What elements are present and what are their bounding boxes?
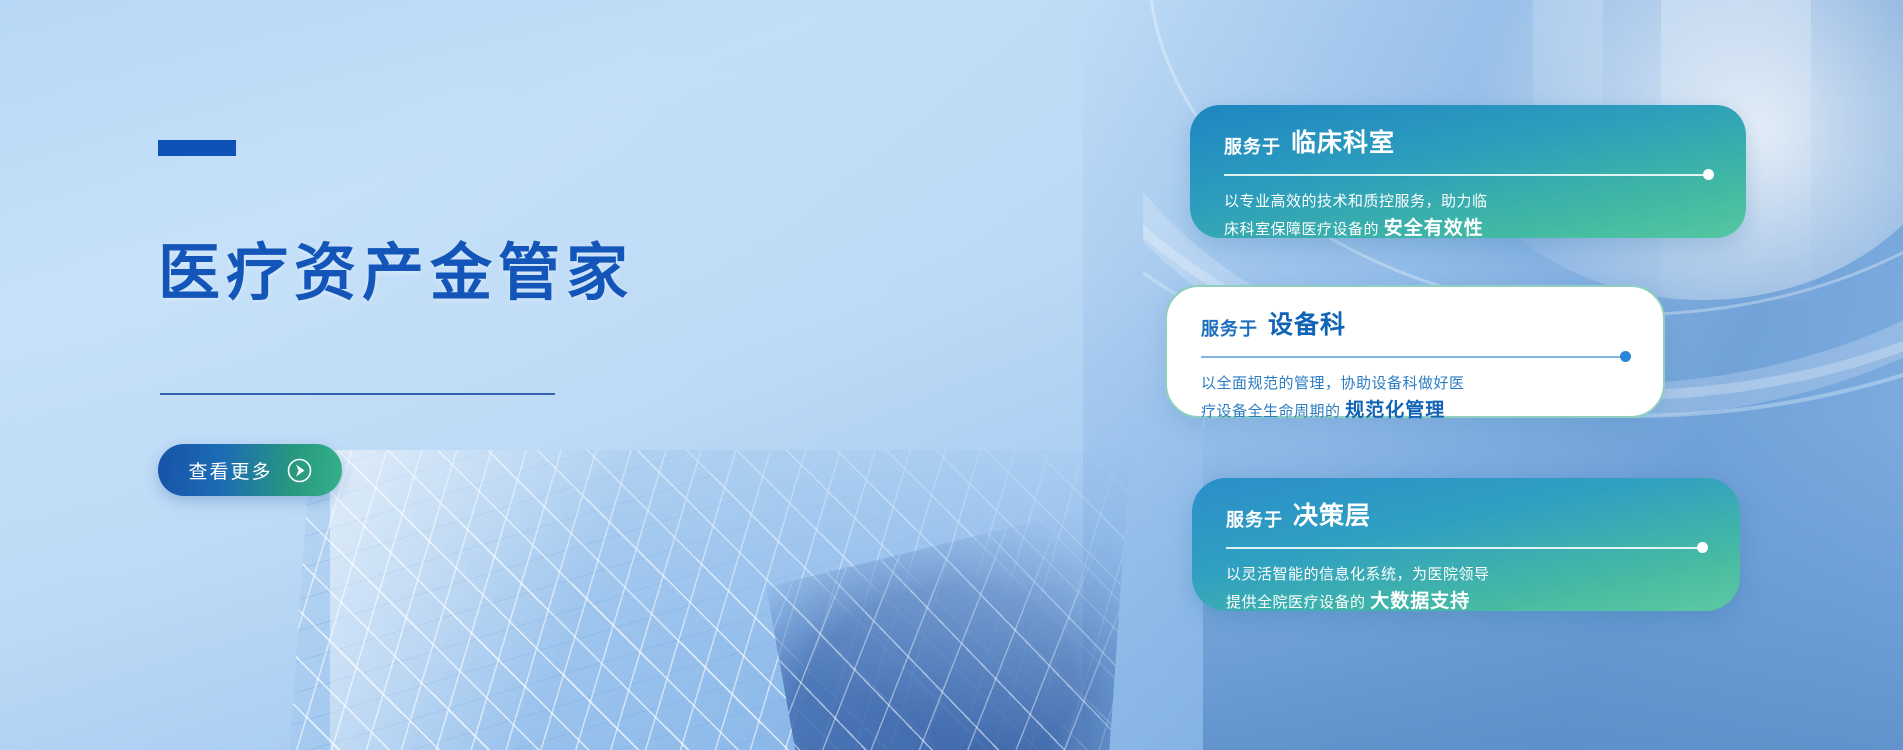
hero-banner: 医疗资产金管家 查看更多 服务于 临床科室 以专业高效的技术和质 — [0, 0, 1903, 750]
card-rule — [1224, 169, 1712, 179]
card-description: 以全面规范的管理，协助设备科做好医 疗设备全生命周期的 规范化管理 — [1201, 372, 1629, 427]
card-heading-prefix: 服务于 — [1201, 320, 1258, 338]
card-heading-target: 决策层 — [1293, 504, 1371, 529]
card-heading: 服务于 设备科 — [1201, 313, 1629, 338]
card-rule-dot-icon — [1620, 351, 1631, 362]
card-description-line1: 以灵活智能的信息化系统，为医院领导 — [1226, 563, 1706, 587]
card-heading: 服务于 决策层 — [1226, 504, 1706, 529]
card-heading-target: 临床科室 — [1291, 131, 1395, 156]
card-rule-line — [1226, 547, 1706, 549]
card-description-line1: 以全面规范的管理，协助设备科做好医 — [1201, 372, 1629, 396]
card-heading: 服务于 临床科室 — [1224, 131, 1712, 156]
card-description-highlight: 安全有效性 — [1384, 218, 1484, 239]
card-description-lead: 提供全院医疗设备的 — [1226, 594, 1366, 611]
service-cards: 服务于 临床科室 以专业高效的技术和质控服务，助力临 床科室保障医疗设备的 安全… — [0, 0, 1903, 750]
card-rule-dot-icon — [1703, 169, 1714, 180]
card-description-highlight: 大数据支持 — [1370, 591, 1470, 612]
card-rule — [1226, 542, 1706, 552]
card-description: 以灵活智能的信息化系统，为医院领导 提供全院医疗设备的 大数据支持 — [1226, 563, 1706, 618]
card-heading-prefix: 服务于 — [1224, 138, 1281, 156]
card-description-lead: 床科室保障医疗设备的 — [1224, 221, 1379, 238]
card-heading-prefix: 服务于 — [1226, 511, 1283, 529]
card-rule-dot-icon — [1697, 542, 1708, 553]
card-description-highlight: 规范化管理 — [1345, 400, 1445, 421]
card-description-line2: 疗设备全生命周期的 规范化管理 — [1201, 396, 1629, 427]
card-description-line2: 提供全院医疗设备的 大数据支持 — [1226, 587, 1706, 618]
card-description-lead: 疗设备全生命周期的 — [1201, 403, 1341, 420]
service-card-decision[interactable]: 服务于 决策层 以灵活智能的信息化系统，为医院领导 提供全院医疗设备的 大数据支… — [1192, 478, 1740, 611]
card-description-line2: 床科室保障医疗设备的 安全有效性 — [1224, 214, 1712, 245]
service-card-clinical[interactable]: 服务于 临床科室 以专业高效的技术和质控服务，助力临 床科室保障医疗设备的 安全… — [1190, 105, 1746, 238]
card-rule-line — [1201, 356, 1629, 358]
card-description-line1: 以专业高效的技术和质控服务，助力临 — [1224, 190, 1712, 214]
card-heading-target: 设备科 — [1268, 313, 1346, 338]
card-rule — [1201, 351, 1629, 361]
service-card-equipment[interactable]: 服务于 设备科 以全面规范的管理，协助设备科做好医 疗设备全生命周期的 规范化管… — [1165, 285, 1665, 418]
card-description: 以专业高效的技术和质控服务，助力临 床科室保障医疗设备的 安全有效性 — [1224, 190, 1712, 245]
card-rule-line — [1224, 174, 1712, 176]
